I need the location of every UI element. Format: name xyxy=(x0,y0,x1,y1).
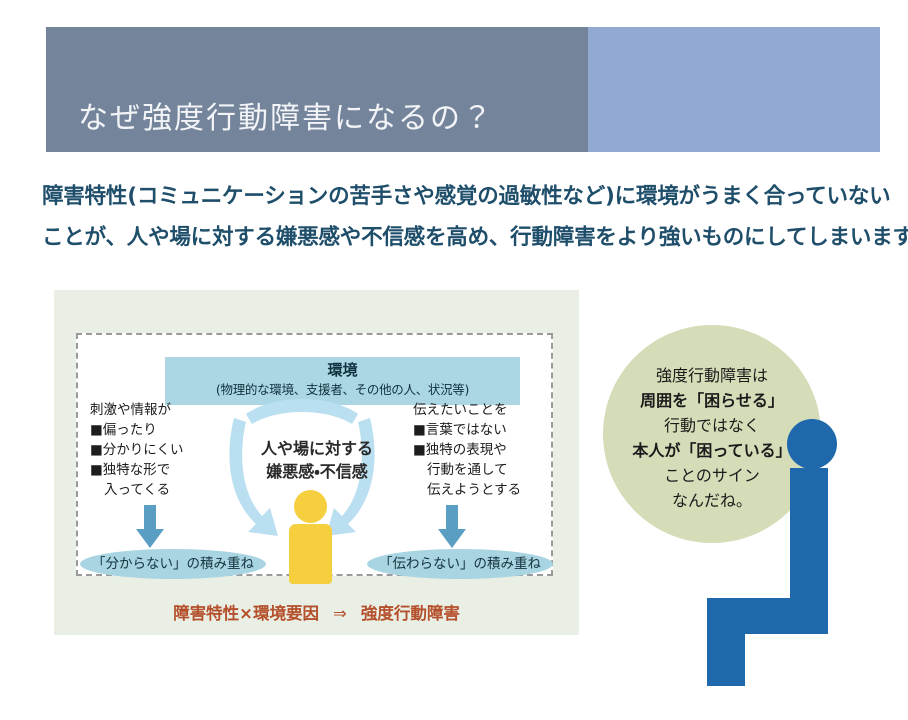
person-blue-foot-icon xyxy=(707,634,745,686)
left-factor-item-3: ■独特な形で xyxy=(90,460,184,480)
bubble-line-1: 強度行動障害は xyxy=(603,363,821,388)
pill-not-communicated: 「伝わらない」の積み重ね xyxy=(367,549,553,579)
center-label-line-2: 嫌悪感・不信感 xyxy=(232,460,402,483)
right-factor-item-2-cont: 行動を通して xyxy=(413,460,521,480)
down-arrow-right-icon xyxy=(437,505,467,549)
bubble-line-2: 周囲を「困らせる」 xyxy=(603,388,821,413)
left-factor-item-1: ■偏ったり xyxy=(90,420,184,440)
person-yellow-body-icon xyxy=(289,524,332,584)
header-banner-right-block xyxy=(588,27,880,152)
formula-arrow-icon: ⇒ xyxy=(319,604,361,623)
person-blue-body-icon xyxy=(790,468,828,610)
header-banner: なぜ強度行動障害になるの？ xyxy=(46,27,880,152)
formula-right-term: 強度行動障害 xyxy=(361,604,460,623)
center-label: 人や場に対する 嫌悪感・不信感 xyxy=(232,437,402,483)
left-factor-item-2: ■分かりにくい xyxy=(90,440,184,460)
lead-line-1: 障害特性(コミュニケーションの苦手さや感覚の過敏性など)に環境がうまく合っていな… xyxy=(42,176,892,217)
right-factor-item-2: ■独特の表現や xyxy=(413,440,521,460)
left-factor-block: 刺激や情報が ■偏ったり ■分かりにくい ■独特な形で 入ってくる xyxy=(90,400,184,500)
lead-line-2: ことが、人や場に対する嫌悪感や不信感を高め、行動障害をより強いものにしてしまいま… xyxy=(42,217,892,258)
right-factor-item-2-cont2: 伝えようとする xyxy=(413,480,521,500)
left-factor-item-3-cont: 入ってくる xyxy=(90,480,184,500)
person-blue-leg-icon xyxy=(707,598,828,634)
center-label-line-1: 人や場に対する xyxy=(232,437,402,460)
pill-not-understood: 「分からない」の積み重ね xyxy=(80,549,266,579)
right-factor-heading: 伝えたいことを xyxy=(413,400,521,420)
right-factor-block: 伝えたいことを ■言葉ではない ■独特の表現や 行動を通して 伝えようとする xyxy=(413,400,521,500)
down-arrow-left-icon xyxy=(135,505,165,549)
page-title: なぜ強度行動障害になるの？ xyxy=(78,93,494,137)
right-factor-item-1: ■言葉ではない xyxy=(413,420,521,440)
formula-left-term: 障害特性×環境要因 xyxy=(173,604,319,623)
person-yellow-head-icon xyxy=(294,490,327,523)
environment-title: 環境 xyxy=(165,361,520,380)
bubble-line-6: なんだね。 xyxy=(603,488,821,513)
bubble-line-5: ことのサイン xyxy=(603,463,821,488)
formula-line: 障害特性×環境要因⇒強度行動障害 xyxy=(54,600,579,624)
lead-paragraph: 障害特性(コミュニケーションの苦手さや感覚の過敏性など)に環境がうまく合っていな… xyxy=(42,176,892,258)
person-blue-head-icon xyxy=(787,419,837,469)
left-factor-heading: 刺激や情報が xyxy=(90,400,184,420)
